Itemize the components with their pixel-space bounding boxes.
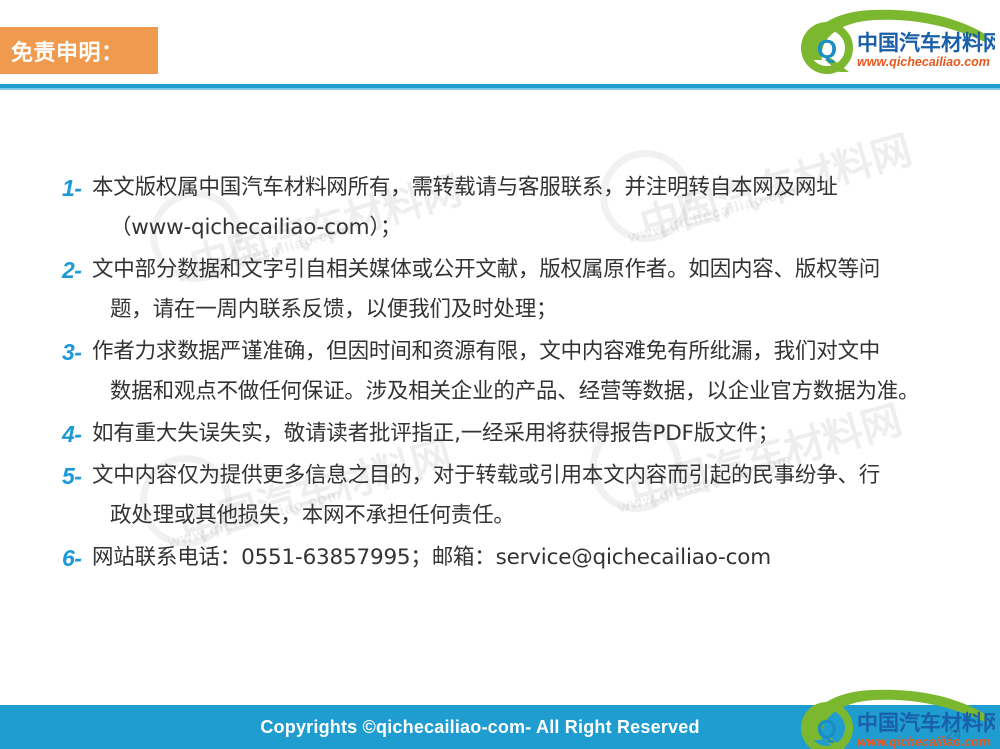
list-item-line: 文中部分数据和文字引自相关媒体或公开文献，版权属原作者。如因内容、版权等问 — [92, 250, 962, 290]
page-number: 24 — [945, 726, 962, 743]
list-item-text: 本文版权属中国汽车材料网所有，需转载请与客服联系，并注明转自本网及网址 （www… — [92, 168, 962, 248]
svg-text:Q: Q — [817, 34, 837, 64]
list-marker: 2- — [62, 250, 92, 290]
list-item-line: 数据和观点不做任何保证。涉及相关企业的产品、经营等数据，以企业官方数据为准。 — [92, 372, 962, 412]
list-item-line: 作者力求数据严谨准确，但因时间和资源有限，文中内容难免有所纰漏，我们对文中 — [92, 332, 962, 372]
page-title-box: 免责申明： — [0, 27, 158, 74]
list-item-text: 网站联系电话：0551-63857995；邮箱：service@qichecai… — [92, 538, 962, 578]
list-item-text: 作者力求数据严谨准确，但因时间和资源有限，文中内容难免有所纰漏，我们对文中 数据… — [92, 332, 962, 412]
svg-text:Q: Q — [817, 714, 837, 744]
list-item: 6- 网站联系电话：0551-63857995；邮箱：service@qiche… — [62, 538, 962, 578]
list-marker: 5- — [62, 456, 92, 496]
list-item: 2- 文中部分数据和文字引自相关媒体或公开文献，版权属原作者。如因内容、版权等问… — [62, 250, 962, 330]
list-item-line: 本文版权属中国汽车材料网所有，需转载请与客服联系，并注明转自本网及网址 — [92, 168, 962, 208]
list-marker: 3- — [62, 332, 92, 372]
header-divider-secondary — [0, 88, 1000, 90]
brand-logo-header: Q 中国汽车材料网 www.qichecailiao.com — [795, 8, 995, 76]
page-title: 免责申明： — [11, 35, 124, 67]
list-item-line: 文中内容仅为提供更多信息之目的，对于转载或引用本文内容而引起的民事纷争、行 — [92, 456, 962, 496]
disclaimer-list: 1- 本文版权属中国汽车材料网所有，需转载请与客服联系，并注明转自本网及网址 （… — [62, 168, 962, 580]
list-item: 5- 文中内容仅为提供更多信息之目的，对于转载或引用本文内容而引起的民事纷争、行… — [62, 456, 962, 536]
brand-logo-footer: Q 中国汽车材料网 www.qichecailiao.com — [795, 688, 995, 749]
list-item-line: （www-qichecailiao-com）； — [92, 208, 962, 248]
svg-text:中国汽车材料网: 中国汽车材料网 — [857, 711, 995, 735]
list-item-line: 网站联系电话：0551-63857995；邮箱：service@qichecai… — [92, 538, 962, 578]
list-item: 3- 作者力求数据严谨准确，但因时间和资源有限，文中内容难免有所纰漏，我们对文中… — [62, 332, 962, 412]
list-marker: 1- — [62, 168, 92, 208]
list-marker: 4- — [62, 414, 92, 454]
list-item-text: 文中内容仅为提供更多信息之目的，对于转载或引用本文内容而引起的民事纷争、行 政处… — [92, 456, 962, 536]
svg-text:www.qichecailiao.com: www.qichecailiao.com — [857, 735, 990, 749]
list-item-text: 文中部分数据和文字引自相关媒体或公开文献，版权属原作者。如因内容、版权等问 题，… — [92, 250, 962, 330]
slide-canvas: 中国汽车材料网 www.qichecailiao.com 中国汽车材料网 www… — [0, 0, 1000, 749]
svg-text:中国汽车材料网: 中国汽车材料网 — [857, 31, 995, 55]
list-item-line: 如有重大失误失实，敬请读者批评指正,一经采用将获得报告PDF版文件； — [92, 414, 962, 454]
list-item: 4- 如有重大失误失实，敬请读者批评指正,一经采用将获得报告PDF版文件； — [62, 414, 962, 454]
list-marker: 6- — [62, 538, 92, 578]
list-item-text: 如有重大失误失实，敬请读者批评指正,一经采用将获得报告PDF版文件； — [92, 414, 962, 454]
svg-text:www.qichecailiao.com: www.qichecailiao.com — [857, 55, 990, 69]
footer-copyright: Copyrights ©qichecailiao-com- All Right … — [260, 717, 699, 738]
list-item-line: 政处理或其他损失，本网不承担任何责任。 — [92, 496, 962, 536]
list-item-line: 题，请在一周内联系反馈，以便我们及时处理； — [92, 290, 962, 330]
list-item: 1- 本文版权属中国汽车材料网所有，需转载请与客服联系，并注明转自本网及网址 （… — [62, 168, 962, 248]
